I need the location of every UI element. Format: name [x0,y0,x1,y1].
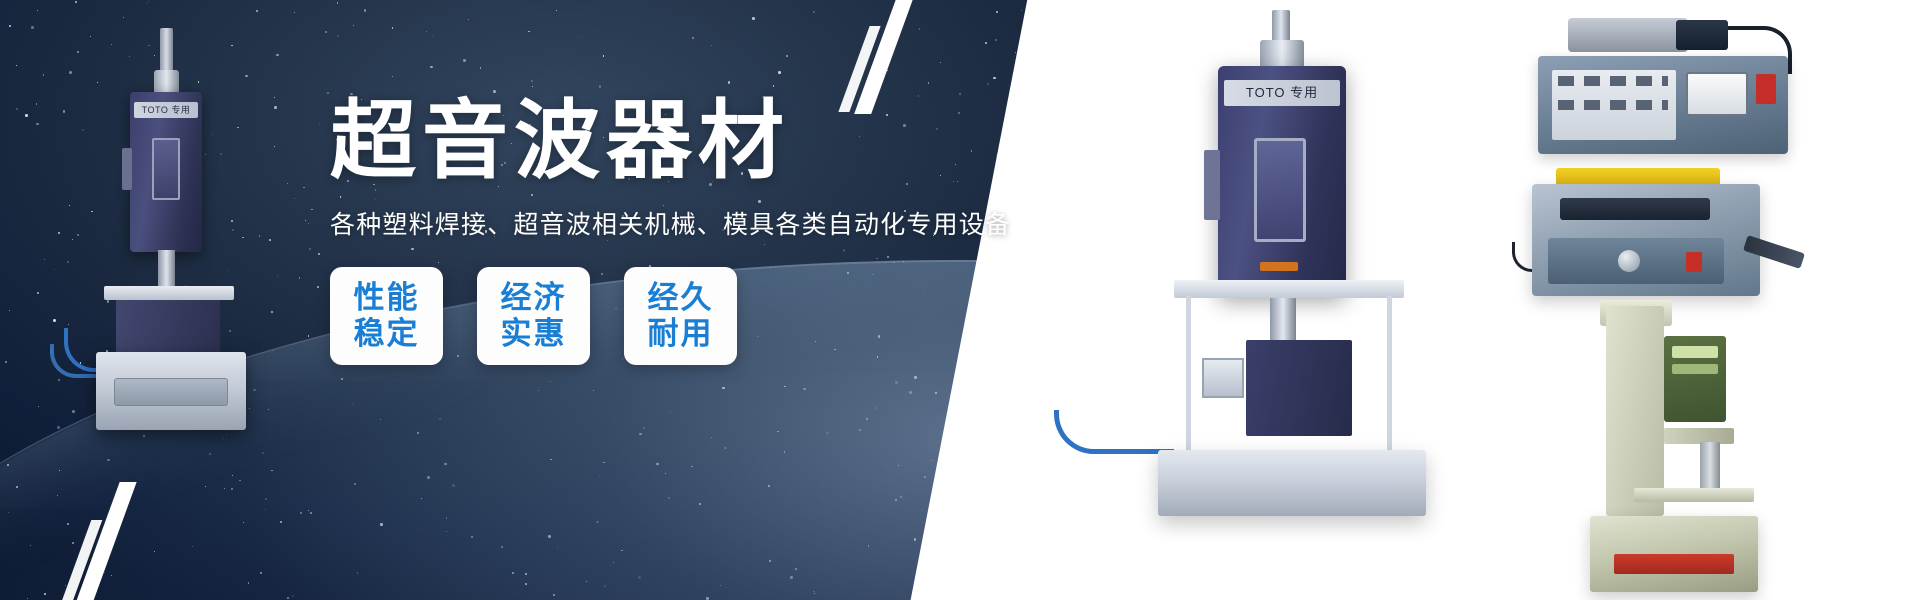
transducer-part [1568,18,1688,52]
machine-window-part [152,138,180,200]
feature-badge-durability[interactable]: 经久 耐用 [624,267,737,365]
machine-fixture-part [1246,340,1352,436]
promo-banner: TOTO 专用 超音波器材 各种塑料焊接、超音波相关机械、模具各类自动化专用设备… [0,0,1920,600]
generator-button-row-part [1558,100,1668,110]
piston-rod-part [160,28,173,74]
machine-side-part [1204,150,1220,220]
cable-decoration [1054,410,1174,454]
machine-side-part [122,148,132,190]
machine-arm-part [1664,428,1734,444]
product-photo-floor-standing-welder [1560,300,1790,600]
badge-line-2: 耐用 [648,316,714,352]
machine-brand-label: TOTO 专用 [1224,80,1340,106]
feature-badge-economy[interactable]: 经济 实惠 [477,267,590,365]
machine-small-box-part [1202,358,1244,398]
machine-brand-label: TOTO 专用 [134,102,198,118]
machine-horn-part [1700,442,1720,490]
analog-meter-part [1686,72,1748,116]
feature-badge-performance[interactable]: 性能 稳定 [330,267,443,365]
machine-column-part [1606,306,1664,516]
machine-red-stripe-part [1614,554,1734,574]
machine-base-part [1158,450,1426,516]
diagonal-slash-icon [57,520,103,600]
badge-line-2: 实惠 [501,316,567,352]
machine-window-part [1254,138,1306,242]
feature-badge-list: 性能 稳定 经济 实惠 经久 耐用 [330,267,1010,365]
badge-line-1: 经久 [648,280,714,316]
product-photo-generator-and-transducer [1500,14,1800,164]
control-knob-part [1618,250,1640,272]
badge-line-1: 经济 [501,280,567,316]
machine-fixture-part [116,298,220,356]
diagonal-slash-icon [72,482,136,600]
badge-line-1: 性能 [354,280,420,316]
transducer-connector-part [1676,20,1728,50]
piston-rod-part [1272,10,1290,44]
display-readout-part [1672,346,1718,358]
machine-worktable-part [1634,488,1754,502]
display-readout-part [1672,364,1718,374]
generator-button-row-part [1558,76,1668,86]
machine-control-panel-part [114,378,228,406]
machine-platform-part [104,286,234,300]
power-switch-part [1686,252,1702,272]
product-photo-welding-machine-left: TOTO 专用 [86,28,266,448]
banner-title: 超音波器材 [330,96,1010,187]
welder-slot-part [1560,198,1710,220]
machine-indicator-part [1260,262,1298,271]
banner-subtitle: 各种塑料焊接、超音波相关机械、模具各类自动化专用设备 [330,205,1010,241]
product-photo-welding-machine-right: TOTO 专用 [1120,10,1450,530]
power-switch-part [1756,74,1776,104]
product-photo-blue-welder-unit [1498,168,1808,304]
banner-text-block: 超音波器材 各种塑料焊接、超音波相关机械、模具各类自动化专用设备 性能 稳定 经… [330,96,1010,365]
badge-line-2: 稳定 [354,316,420,352]
